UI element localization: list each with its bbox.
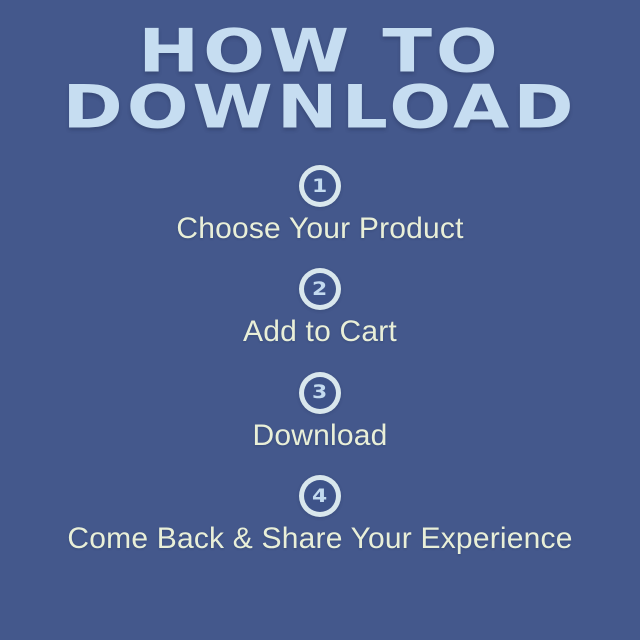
step-badge-2: 2 (299, 268, 341, 310)
step-badge-inner-1: 1 (304, 170, 336, 202)
poster-title: HOW TO DOWNLOAD (0, 24, 640, 134)
step-number-4: 4 (312, 487, 327, 506)
step-item-4: 4 Come Back & Share Your Experience (0, 475, 640, 556)
step-badge-inner-4: 4 (304, 480, 336, 512)
step-badge-4: 4 (299, 475, 341, 517)
step-badge-3: 3 (299, 372, 341, 414)
steps-list: 1 Choose Your Product 2 Add to Cart 3 Do… (0, 165, 640, 557)
step-item-3: 3 Download (0, 372, 640, 453)
step-number-1: 1 (312, 177, 327, 196)
title-line-how-to: HOW TO (0, 24, 640, 81)
step-label-1: Choose Your Product (0, 211, 640, 246)
instruction-poster: HOW TO DOWNLOAD 1 Choose Your Product 2 … (0, 0, 640, 640)
step-item-1: 1 Choose Your Product (0, 165, 640, 246)
step-number-3: 3 (312, 383, 327, 402)
step-badge-inner-3: 3 (304, 377, 336, 409)
step-badge-1: 1 (299, 165, 341, 207)
step-number-2: 2 (312, 280, 327, 299)
step-label-2: Add to Cart (0, 314, 640, 349)
step-badge-inner-2: 2 (304, 273, 336, 305)
step-label-3: Download (0, 418, 640, 453)
step-label-4: Come Back & Share Your Experience (0, 521, 640, 556)
step-item-2: 2 Add to Cart (0, 268, 640, 349)
title-line-download: DOWNLOAD (0, 80, 640, 137)
